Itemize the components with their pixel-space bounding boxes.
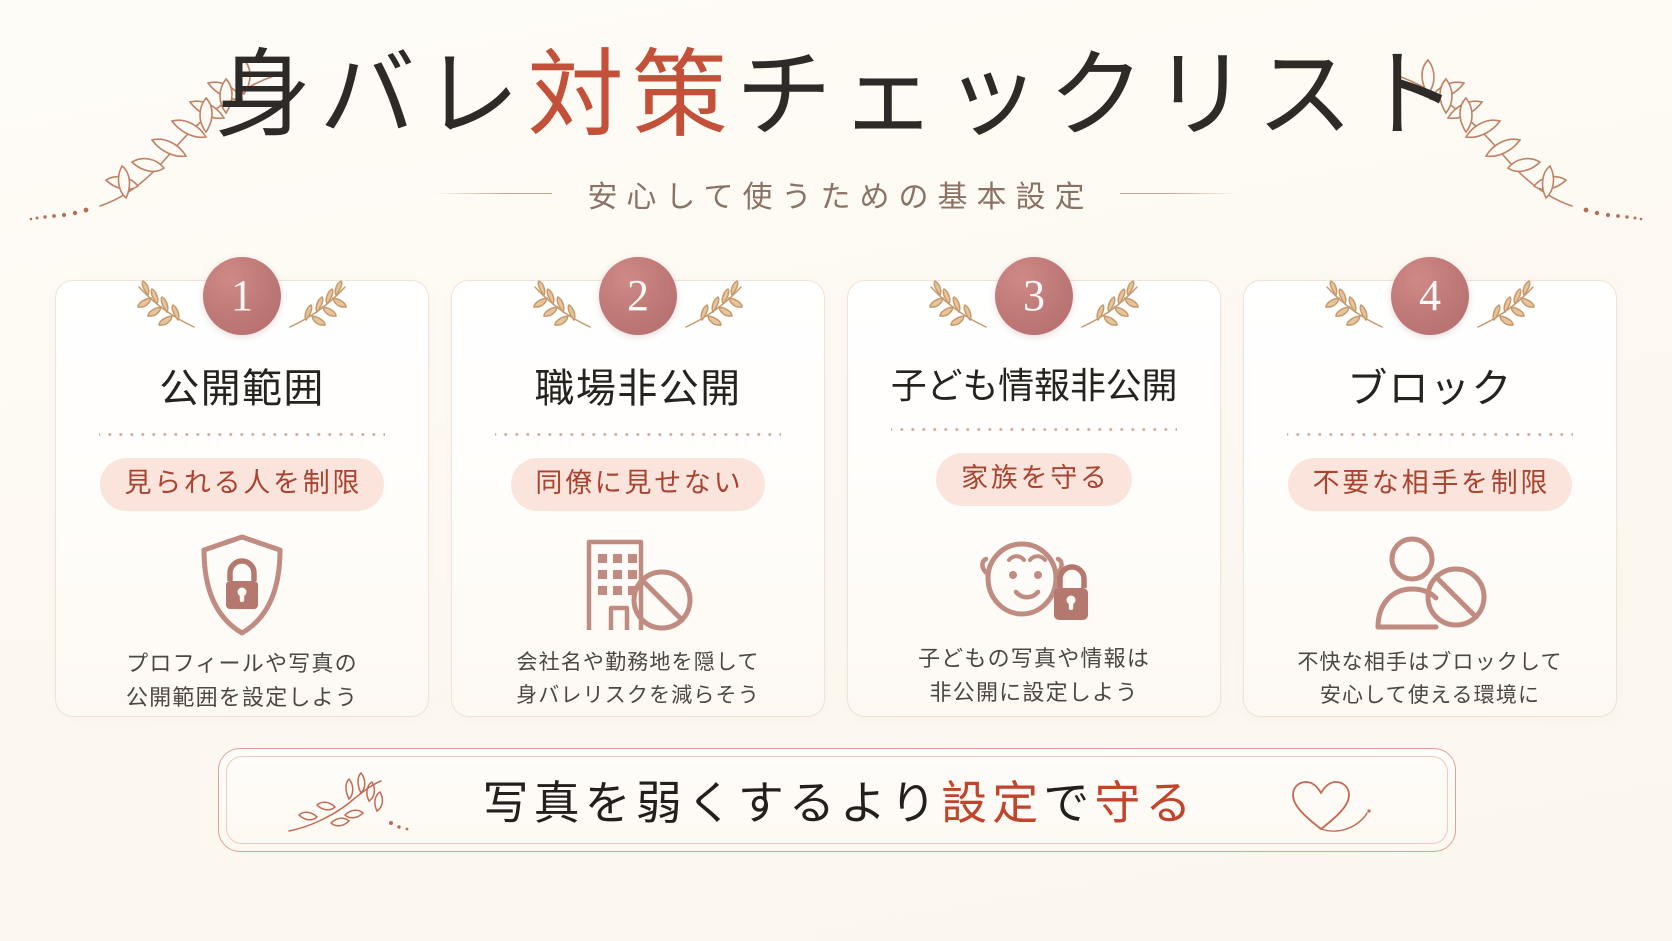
heart-outline-icon — [1281, 777, 1377, 837]
card-pill-badge: 見られる人を制限 — [100, 458, 384, 511]
badge-wrap: 1 — [56, 257, 428, 353]
card-description-line-1: 会社名や勤務地を隠して — [468, 647, 808, 680]
card-description-line-1: 子どもの写真や情報は — [864, 642, 1204, 676]
subtitle-rule-right — [1120, 193, 1238, 194]
step-number-badge: 3 — [995, 257, 1073, 335]
checklist-card[interactable]: 4 ブロック 不要な相手を制限 不快な相手はブロックして — [1243, 280, 1617, 717]
laurel-sprig-icon — [1076, 281, 1142, 333]
card-description: 会社名や勤務地を隠して 身バレリスクを減らそう — [468, 647, 808, 712]
card-description: 不快な相手はブロックして 安心して使える環境に — [1260, 647, 1600, 712]
card-pill-badge: 家族を守る — [936, 453, 1131, 506]
footer-banner-inner: 写真を弱くするより設定で守る — [226, 756, 1448, 844]
card-description-line-2: 非公開に設定しよう — [864, 676, 1204, 710]
title-accent: 対策 — [528, 42, 736, 149]
step-number-badge: 2 — [599, 257, 677, 335]
badge-wrap: 4 — [1244, 257, 1616, 353]
dot-divider — [99, 433, 385, 436]
card-description-line-2: 安心して使える環境に — [1260, 680, 1600, 713]
subtitle-row: 安心して使うための基本設定 — [0, 172, 1672, 216]
person-blocked-icon — [1370, 535, 1490, 635]
subtitle-rule-left — [434, 193, 552, 194]
card-title: 職場非公開 — [468, 365, 808, 413]
card-pill-badge: 不要な相手を制限 — [1288, 458, 1572, 511]
card-icon-box — [1260, 529, 1600, 641]
footer-banner: 写真を弱くするより設定で守る — [218, 748, 1456, 852]
checklist-cards: 1 公開範囲 見られる人を制限 プロフィールや写真の 公開 — [55, 280, 1617, 717]
banner-text-part-1: 写真を弱くするより — [483, 778, 942, 829]
laurel-sprig-icon — [530, 281, 596, 333]
card-title: ブロック — [1260, 365, 1600, 413]
card-description: 子どもの写真や情報は 非公開に設定しよう — [864, 642, 1204, 710]
laurel-sprig-icon — [926, 281, 992, 333]
infographic-canvas: 身バレ対策チェックリスト 安心して使うための基本設定 — [0, 0, 1672, 941]
banner-text-mid: で — [1043, 778, 1094, 829]
card-title: 子ども情報非公開 — [864, 365, 1204, 408]
laurel-sprig-icon — [284, 281, 350, 333]
office-building-prohibited-icon — [579, 534, 697, 636]
card-icon-box — [72, 529, 412, 641]
laurel-sprig-icon — [680, 281, 746, 333]
card-description-line-1: 不快な相手はブロックして — [1260, 647, 1600, 680]
laurel-sprig-icon — [1322, 281, 1388, 333]
header: 身バレ対策チェックリスト 安心して使うための基本設定 — [0, 44, 1672, 216]
banner-text-accent-2: 守る — [1094, 778, 1196, 829]
step-number-badge: 4 — [1391, 257, 1469, 335]
card-icon-box — [864, 524, 1204, 636]
card-description-line-1: プロフィールや写真の — [72, 647, 412, 681]
card-description-line-2: 身バレリスクを減らそう — [468, 680, 808, 713]
floral-branch-icon — [287, 771, 437, 837]
checklist-card[interactable]: 3 子ども情報非公開 家族を守る — [847, 280, 1221, 717]
badge-wrap: 2 — [452, 257, 824, 353]
laurel-sprig-icon — [1472, 281, 1538, 333]
title-part-1: 身バレ — [215, 42, 527, 149]
laurel-sprig-icon — [134, 281, 200, 333]
card-icon-box — [468, 529, 808, 641]
page-subtitle: 安心して使うための基本設定 — [578, 172, 1093, 216]
card-description: プロフィールや写真の 公開範囲を設定しよう — [72, 647, 412, 715]
child-face-lock-icon — [972, 530, 1096, 630]
card-pill-badge: 同僚に見せない — [511, 458, 766, 511]
checklist-card[interactable]: 1 公開範囲 見られる人を制限 プロフィールや写真の 公開 — [55, 280, 429, 717]
title-part-2: チェックリスト — [736, 42, 1465, 149]
dot-divider — [1287, 433, 1573, 436]
card-description-line-2: 公開範囲を設定しよう — [72, 681, 412, 715]
step-number-badge: 1 — [203, 257, 281, 335]
dot-divider — [891, 428, 1177, 431]
page-title: 身バレ対策チェックリスト — [0, 44, 1672, 148]
banner-text-accent-1: 設定 — [941, 778, 1043, 829]
badge-wrap: 3 — [848, 257, 1220, 353]
checklist-card[interactable]: 2 職場非公開 同僚に見せない — [451, 280, 825, 717]
card-title: 公開範囲 — [72, 365, 412, 413]
dot-divider — [495, 433, 781, 436]
shield-lock-icon — [196, 533, 288, 637]
footer-banner-text: 写真を弱くするより設定で守る — [478, 767, 1197, 833]
